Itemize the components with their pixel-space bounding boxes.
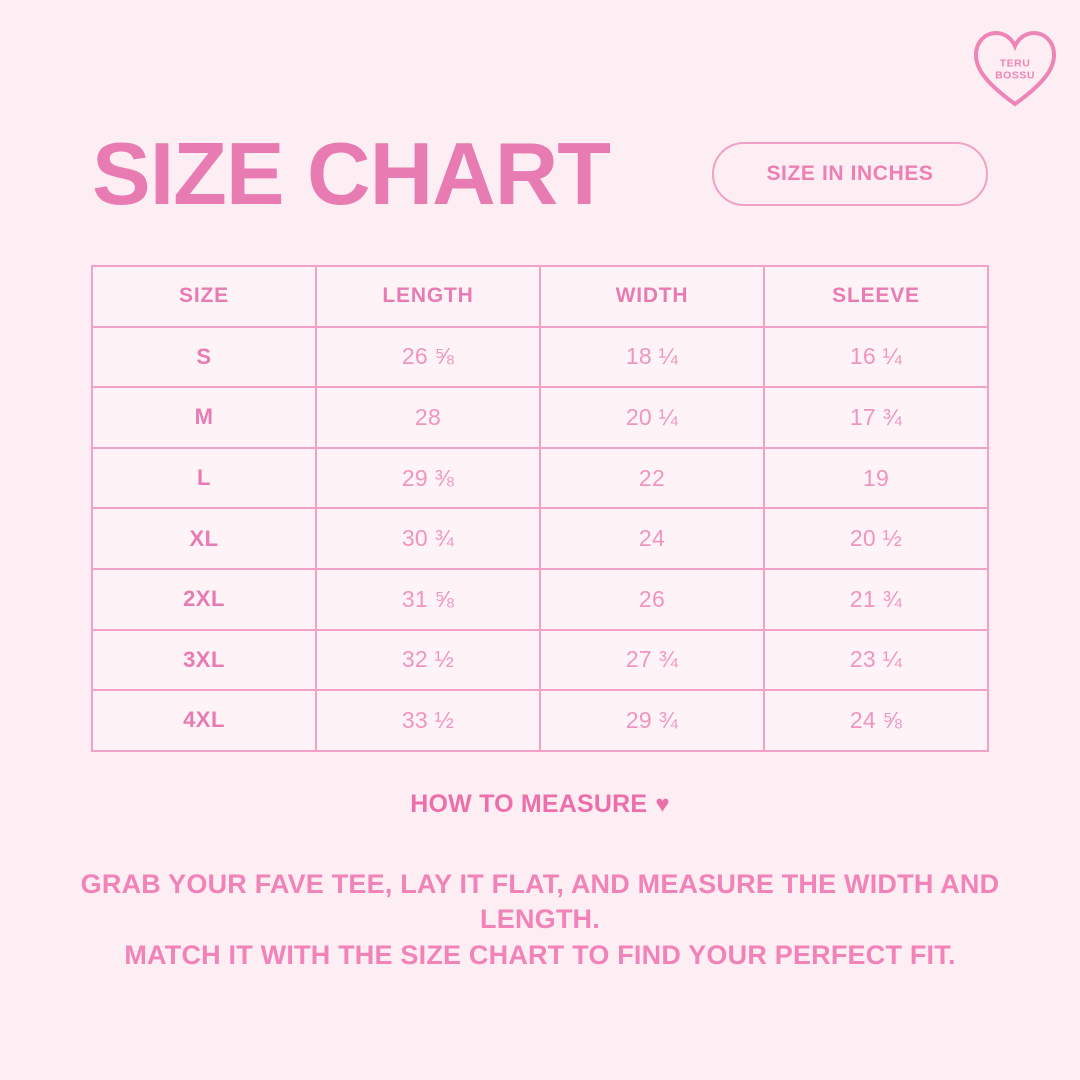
how-to-measure-heading: HOW TO MEASURE ♥ [60,790,1020,819]
column-header-sleeve: SLEEVE [764,266,988,327]
cell-width: 20 ¼ [540,387,764,448]
heart-icon: ♥ [655,793,669,817]
column-header-width: WIDTH [540,266,764,327]
cell-width: 18 ¼ [540,327,764,388]
cell-size: XL [92,508,316,569]
cell-width: 24 [540,508,764,569]
cell-length: 28 [316,387,540,448]
cell-size: 2XL [92,569,316,630]
brand-logo-line2: BOSSU [995,69,1035,81]
page-title: SIZE CHART [92,130,610,218]
how-to-measure-section: HOW TO MEASURE ♥ GRAB YOUR FAVE TEE, LAY… [60,790,1020,973]
cell-length: 30 ¾ [316,508,540,569]
cell-sleeve: 17 ¾ [764,387,988,448]
how-to-measure-body: GRAB YOUR FAVE TEE, LAY IT FLAT, AND MEA… [60,867,1020,973]
cell-sleeve: 16 ¼ [764,327,988,388]
cell-width: 27 ¾ [540,630,764,691]
cell-size: S [92,327,316,388]
cell-sleeve: 24 ⅝ [764,690,988,751]
cell-width: 29 ¾ [540,690,764,751]
size-chart-table: SIZE LENGTH WIDTH SLEEVE S 26 ⅝ 18 ¼ 16 … [91,265,989,752]
brand-logo-line1: TERU [995,57,1035,69]
table-row: S 26 ⅝ 18 ¼ 16 ¼ [92,327,988,388]
table-row: M 28 20 ¼ 17 ¾ [92,387,988,448]
how-to-measure-heading-label: HOW TO MEASURE [410,790,647,819]
table-body: S 26 ⅝ 18 ¼ 16 ¼ M 28 20 ¼ 17 ¾ L 29 ⅜ 2… [92,327,988,751]
cell-size: 3XL [92,630,316,691]
table-header-row: SIZE LENGTH WIDTH SLEEVE [92,266,988,327]
cell-width: 26 [540,569,764,630]
table-row: 2XL 31 ⅝ 26 21 ¾ [92,569,988,630]
cell-length: 33 ½ [316,690,540,751]
size-chart-table-container: SIZE LENGTH WIDTH SLEEVE S 26 ⅝ 18 ¼ 16 … [91,265,989,752]
cell-sleeve: 19 [764,448,988,509]
table-row: L 29 ⅜ 22 19 [92,448,988,509]
cell-length: 31 ⅝ [316,569,540,630]
unit-badge: SIZE IN INCHES [712,142,988,206]
cell-sleeve: 20 ½ [764,508,988,569]
table-row: 4XL 33 ½ 29 ¾ 24 ⅝ [92,690,988,751]
table-head: SIZE LENGTH WIDTH SLEEVE [92,266,988,327]
cell-sleeve: 23 ¼ [764,630,988,691]
cell-size: M [92,387,316,448]
table-row: XL 30 ¾ 24 20 ½ [92,508,988,569]
unit-badge-label: SIZE IN INCHES [766,162,933,186]
brand-logo: TERU BOSSU [972,28,1058,110]
brand-logo-text: TERU BOSSU [995,57,1035,81]
how-to-measure-line-2: MATCH IT WITH THE SIZE CHART TO FIND YOU… [60,938,1020,973]
cell-length: 32 ½ [316,630,540,691]
table-row: 3XL 32 ½ 27 ¾ 23 ¼ [92,630,988,691]
page-header: SIZE CHART SIZE IN INCHES [92,120,988,228]
cell-width: 22 [540,448,764,509]
cell-size: L [92,448,316,509]
cell-sleeve: 21 ¾ [764,569,988,630]
column-header-size: SIZE [92,266,316,327]
cell-length: 29 ⅜ [316,448,540,509]
column-header-length: LENGTH [316,266,540,327]
cell-length: 26 ⅝ [316,327,540,388]
how-to-measure-line-1: GRAB YOUR FAVE TEE, LAY IT FLAT, AND MEA… [81,869,1000,934]
cell-size: 4XL [92,690,316,751]
